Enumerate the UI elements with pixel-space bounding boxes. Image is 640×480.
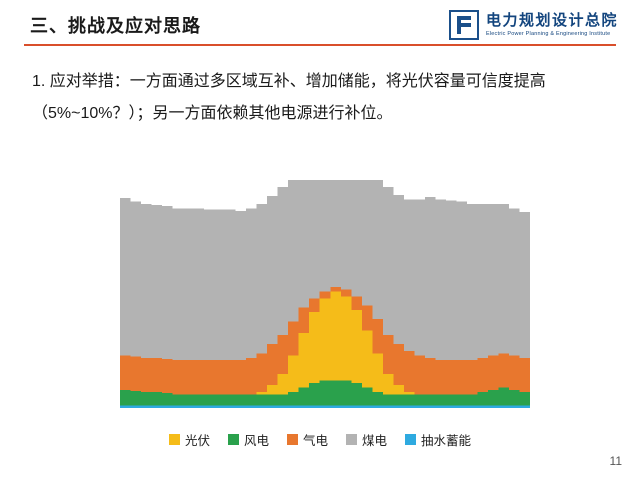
legend-item-2: 气电 [287, 430, 328, 449]
legend-item-3: 煤电 [346, 430, 387, 449]
legend-label-1: 风电 [244, 430, 269, 449]
epp-monogram-icon [449, 10, 479, 40]
logo-name-en: Electric Power Planning & Engineering In… [486, 31, 618, 37]
legend-swatch-icon-0 [169, 434, 180, 445]
legend-item-0: 光伏 [169, 430, 210, 449]
page-title: 三、挑战及应对思路 [30, 12, 201, 38]
institute-logo: 电力规划设计总院 Electric Power Planning & Engin… [449, 8, 618, 42]
stacked-area-chart [120, 180, 530, 408]
legend-label-4: 抽水蓄能 [421, 430, 471, 449]
slide-header: 三、挑战及应对思路 电力规划设计总院 Electric Power Planni… [0, 0, 640, 48]
legend-label-3: 煤电 [362, 430, 387, 449]
legend-label-0: 光伏 [185, 430, 210, 449]
chart-canvas [120, 180, 530, 408]
body-paragraph: 1. 应对举措：一方面通过多区域互补、增加储能，将光伏容量可信度提高（5%~10… [32, 66, 608, 130]
logo-name-cn: 电力规划设计总院 [486, 13, 618, 30]
legend-swatch-icon-2 [287, 434, 298, 445]
legend-item-4: 抽水蓄能 [405, 430, 471, 449]
legend-swatch-icon-3 [346, 434, 357, 445]
legend-swatch-icon-4 [405, 434, 416, 445]
chart-legend: 光伏 风电 气电 煤电 抽水蓄能 [0, 430, 640, 449]
logo-text: 电力规划设计总院 Electric Power Planning & Engin… [486, 13, 618, 38]
header-divider [24, 44, 616, 46]
page-number: 11 [610, 454, 622, 468]
legend-label-2: 气电 [303, 430, 328, 449]
legend-swatch-icon-1 [228, 434, 239, 445]
legend-item-1: 风电 [228, 430, 269, 449]
area-series-抽水蓄能 [120, 406, 530, 408]
